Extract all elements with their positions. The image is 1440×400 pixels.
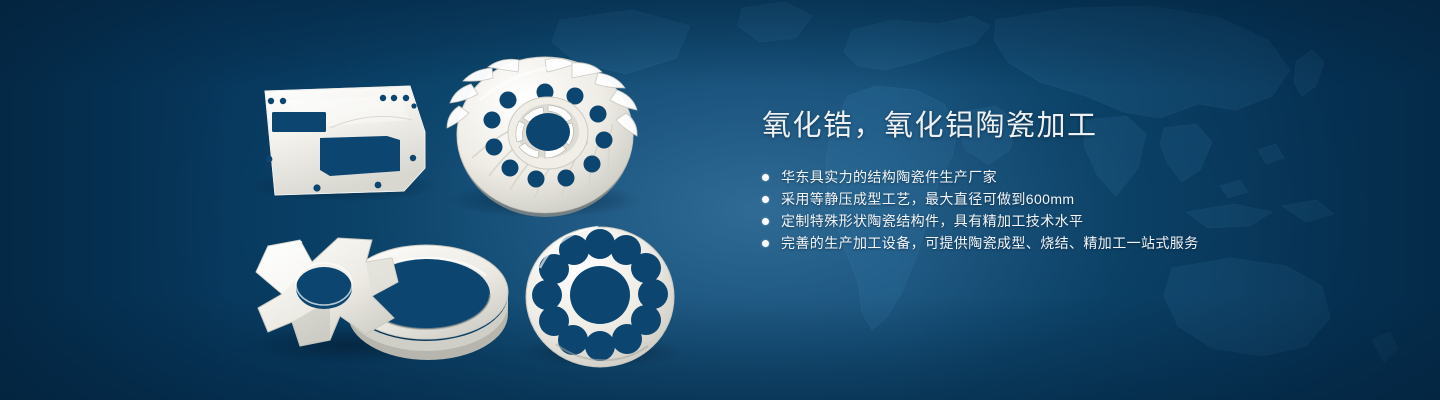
bullet-dot-icon — [762, 240, 769, 247]
bullet-dot-icon — [762, 174, 769, 181]
feature-text: 采用等静压成型工艺，最大直径可做到600mm — [781, 188, 1074, 210]
feature-text: 华东具实力的结构陶瓷件生产厂家 — [781, 166, 997, 188]
feature-item-4: 完善的生产加工设备，可提供陶瓷成型、烧结、精加工一站式服务 — [762, 232, 1382, 254]
feature-item-1: 华东具实力的结构陶瓷件生产厂家 — [762, 166, 1382, 188]
feature-item-2: 采用等静压成型工艺，最大直径可做到600mm — [762, 188, 1382, 210]
ceramic-perforated-disc — [526, 227, 674, 367]
feature-list: 华东具实力的结构陶瓷件生产厂家 采用等静压成型工艺，最大直径可做到600mm 定… — [762, 166, 1382, 254]
ceramic-machined-plate — [265, 86, 425, 195]
bullet-dot-icon — [762, 196, 769, 203]
banner-headline: 氧化锆，氧化铝陶瓷加工 — [762, 108, 1382, 144]
hero-banner: 氧化锆，氧化铝陶瓷加工 华东具实力的结构陶瓷件生产厂家 采用等静压成型工艺，最大… — [0, 0, 1440, 400]
banner-copy: 氧化锆，氧化铝陶瓷加工 华东具实力的结构陶瓷件生产厂家 采用等静压成型工艺，最大… — [762, 108, 1382, 254]
feature-text: 完善的生产加工设备，可提供陶瓷成型、烧结、精加工一站式服务 — [781, 232, 1199, 254]
feature-text: 定制特殊形状陶瓷结构件，具有精加工技术水平 — [781, 210, 1083, 232]
feature-item-3: 定制特殊形状陶瓷结构件，具有精加工技术水平 — [762, 210, 1382, 232]
ceramic-products-image — [0, 0, 720, 400]
bullet-dot-icon — [762, 218, 769, 225]
